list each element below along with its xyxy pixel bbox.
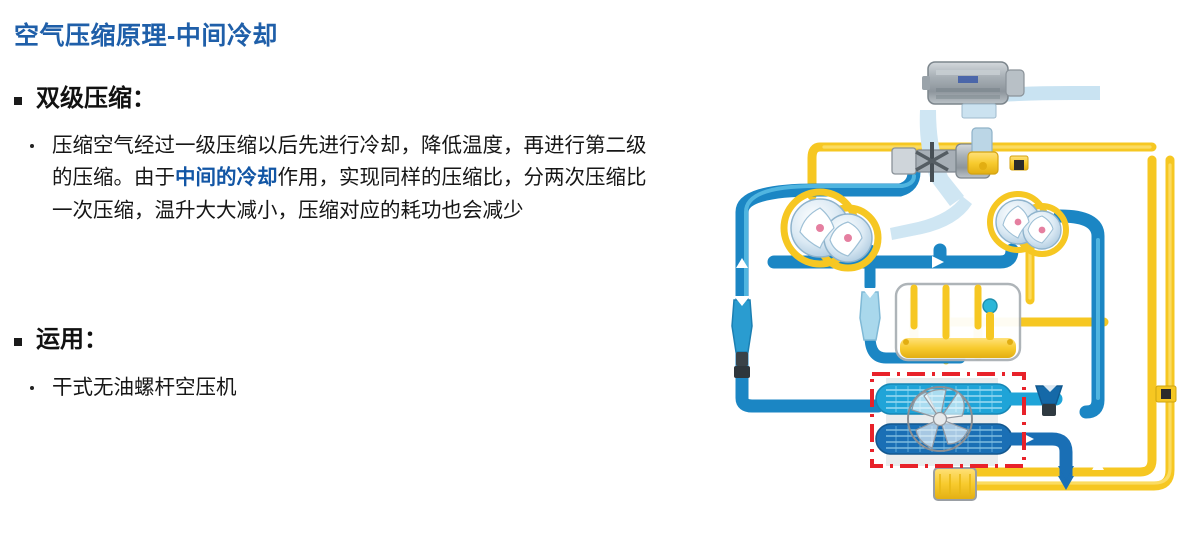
- moisture-separator-1: [732, 296, 752, 366]
- square-bullet-icon: [14, 97, 22, 105]
- bullet-level2-1: 压缩空气经过一级压缩以后先进行冷却，降低温度，再进行第二级的压缩。由于中间的冷却…: [30, 130, 652, 227]
- para1-highlight: 中间的冷却: [175, 166, 278, 189]
- condensate-drain-valve: [734, 366, 750, 378]
- oil-separator-tank: [896, 284, 1020, 360]
- page-title: 空气压缩原理-中间冷却: [14, 16, 278, 52]
- dot-bullet-icon: [30, 386, 34, 390]
- bullet-level1-2: 运用：: [14, 325, 108, 355]
- bullet-level2-1-text: 压缩空气经过一级压缩以后先进行冷却，降低温度，再进行第二级的压缩。由于中间的冷却…: [52, 130, 652, 227]
- moisture-separator-2: [860, 288, 880, 340]
- compressor-schematic-diagram: [700, 0, 1200, 546]
- bullet-level2-2: 干式无油螺杆空压机: [30, 372, 652, 404]
- outlet-check-valve: [1036, 382, 1062, 416]
- air-intake-filter: [922, 62, 1024, 118]
- bullet-level2-2-text: 干式无油螺杆空压机: [52, 372, 652, 404]
- slide-root: 空气压缩原理-中间冷却 双级压缩： 压缩空气经过一级压缩以后先进行冷却，降低温度…: [0, 0, 1200, 546]
- bullet-level1-2-label: 运用：: [36, 325, 108, 355]
- oil-line-sensor: [1156, 386, 1176, 402]
- text-column: 空气压缩原理-中间冷却 双级压缩： 压缩空气经过一级压缩以后先进行冷却，降低温度…: [0, 0, 700, 546]
- bullet-level1-1: 双级压缩：: [14, 84, 156, 114]
- square-bullet-icon: [14, 338, 22, 346]
- bullet-level1-1-label: 双级压缩：: [36, 84, 156, 114]
- oil-cooler-box: [934, 468, 976, 500]
- second-stage-compressor: [990, 194, 1066, 254]
- dot-bullet-icon: [30, 144, 34, 148]
